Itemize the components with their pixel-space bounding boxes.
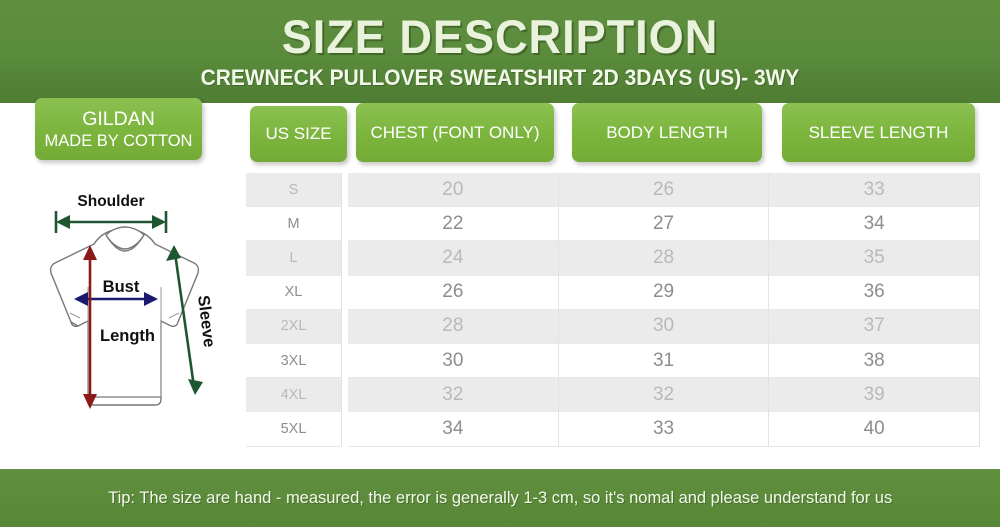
page-subtitle: CREWNECK PULLOVER SWEATSHIRT 2D 3DAYS (U… — [35, 65, 965, 91]
column-header-us-size: US SIZE — [250, 106, 347, 162]
cell-chest: 24 — [348, 241, 559, 275]
brand-tagline: MADE BY COTTON — [45, 131, 193, 152]
cell-chest: 34 — [348, 412, 559, 446]
table-row: 3XL 30 31 38 — [246, 344, 980, 378]
table-row: M 22 27 34 — [246, 207, 980, 241]
cell-sleeve: 35 — [769, 241, 980, 275]
cell-sleeve: 34 — [769, 207, 980, 241]
column-header-sleeve-length-label: SLEEVE LENGTH — [809, 123, 949, 143]
cell-us-size: 2XL — [246, 310, 342, 344]
cell-chest: 22 — [348, 207, 559, 241]
column-header-chest-label: CHEST (FONT ONLY) — [370, 123, 539, 143]
cell-chest: 26 — [348, 276, 559, 310]
cell-chest: 20 — [348, 173, 559, 207]
size-chart-panel: GILDAN MADE BY COTTON US SIZE CHEST (FON… — [0, 103, 1000, 469]
cell-body: 30 — [559, 310, 770, 344]
shirt-measurement-diagram: Shoulder Bust Length — [8, 191, 240, 441]
shoulder-label: Shoulder — [77, 193, 144, 210]
cell-sleeve: 36 — [769, 276, 980, 310]
cell-body: 26 — [559, 173, 770, 207]
column-header-body-length: BODY LENGTH — [572, 103, 762, 162]
cell-sleeve: 33 — [769, 173, 980, 207]
cell-us-size: 4XL — [246, 378, 342, 412]
column-header-sleeve-length: SLEEVE LENGTH — [782, 103, 975, 162]
cell-body: 28 — [559, 241, 770, 275]
size-table: S 20 26 33 M 22 27 34 L 24 28 35 XL — [246, 173, 980, 447]
table-row: 2XL 28 30 37 — [246, 310, 980, 344]
sleeve-label: Sleeve — [194, 294, 218, 348]
cell-chest: 30 — [348, 344, 559, 378]
column-header-body-length-label: BODY LENGTH — [606, 123, 728, 143]
cell-us-size: M — [246, 207, 342, 241]
cell-sleeve: 40 — [769, 412, 980, 446]
table-row: S 20 26 33 — [246, 173, 980, 207]
footer-bar: Tip: The size are hand - measured, the e… — [0, 469, 1000, 527]
cell-chest: 28 — [348, 310, 559, 344]
table-row: L 24 28 35 — [246, 241, 980, 275]
cell-us-size: S — [246, 173, 342, 207]
shoulder-arrow-icon — [56, 211, 166, 233]
cell-body: 31 — [559, 344, 770, 378]
cell-us-size: 3XL — [246, 344, 342, 378]
page-title: SIZE DESCRIPTION — [20, 12, 980, 61]
bust-label: Bust — [103, 278, 140, 296]
footer-tip: Tip: The size are hand - measured, the e… — [108, 488, 892, 508]
cell-us-size: 5XL — [246, 412, 342, 446]
cell-us-size: XL — [246, 276, 342, 310]
page-banner: SIZE DESCRIPTION CREWNECK PULLOVER SWEAT… — [0, 0, 1000, 103]
brand-name: GILDAN — [82, 107, 155, 131]
column-header-chest: CHEST (FONT ONLY) — [356, 103, 554, 162]
cell-sleeve: 39 — [769, 378, 980, 412]
cell-us-size: L — [246, 241, 342, 275]
table-row: 4XL 32 32 39 — [246, 378, 980, 412]
cell-body: 29 — [559, 276, 770, 310]
table-row: XL 26 29 36 — [246, 276, 980, 310]
cell-body: 33 — [559, 412, 770, 446]
cell-sleeve: 37 — [769, 310, 980, 344]
cell-body: 32 — [559, 378, 770, 412]
brand-badge: GILDAN MADE BY COTTON — [35, 98, 202, 160]
cell-body: 27 — [559, 207, 770, 241]
table-row: 5XL 34 33 40 — [246, 412, 980, 446]
cell-chest: 32 — [348, 378, 559, 412]
cell-sleeve: 38 — [769, 344, 980, 378]
column-header-us-size-label: US SIZE — [265, 124, 331, 144]
length-label: Length — [100, 327, 155, 345]
